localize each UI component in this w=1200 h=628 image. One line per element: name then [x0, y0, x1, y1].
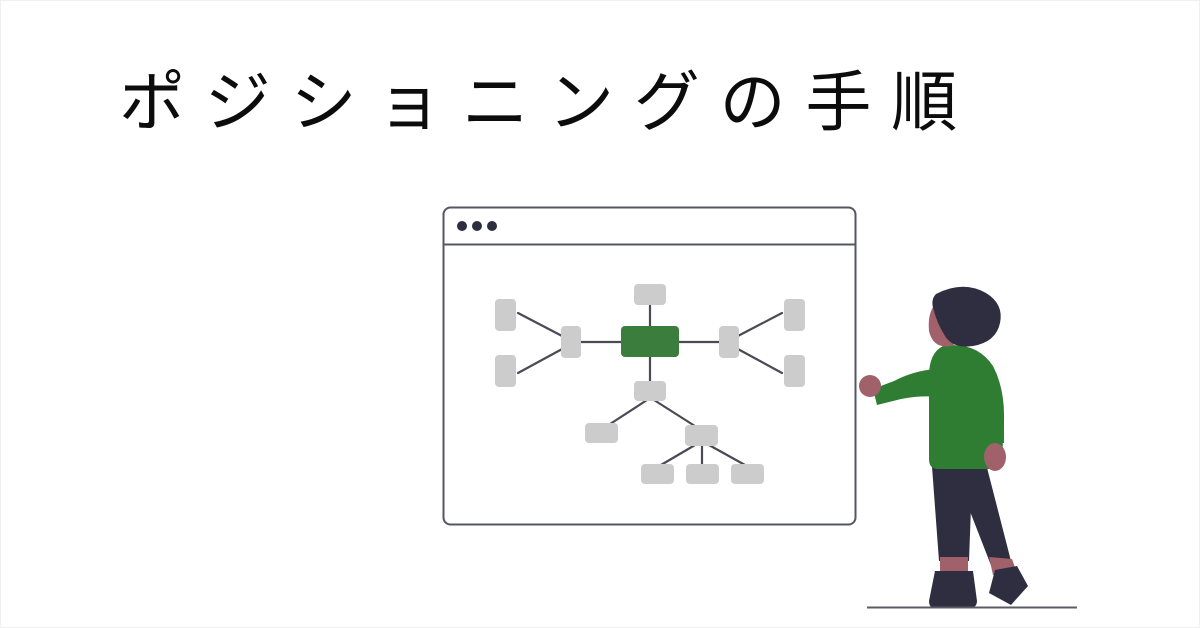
window-dot-close-icon[interactable]	[457, 221, 467, 231]
diagram-node-leaf-3[interactable]	[731, 464, 764, 484]
page-canvas: ポジショニングの手順	[0, 0, 1200, 628]
person-front-leg	[931, 453, 973, 561]
person-hand	[859, 375, 881, 397]
diagram-node-leaf-1[interactable]	[641, 464, 674, 484]
diagram-node-hub-left[interactable]	[561, 326, 581, 358]
diagram-node-right-top[interactable]	[784, 299, 805, 331]
person-back-shoe	[989, 566, 1028, 605]
diagram-node-center[interactable]	[621, 326, 679, 357]
diagram-node-hub-right[interactable]	[719, 326, 739, 358]
hero-illustration	[1, 1, 1200, 628]
person-hanging-hand	[984, 443, 1006, 471]
person-front-shoe	[929, 571, 977, 608]
diagram-node-left-top[interactable]	[495, 299, 516, 331]
person-illustration	[859, 287, 1028, 608]
window-dot-minimize-icon[interactable]	[472, 221, 482, 231]
diagram-node-bottom-sub-hub[interactable]	[685, 425, 718, 446]
diagram-node-top[interactable]	[634, 284, 666, 305]
diagram-node-bottom-hub[interactable]	[634, 381, 666, 401]
diagram-node-left-bottom[interactable]	[495, 355, 516, 387]
window-dot-maximize-icon[interactable]	[487, 221, 497, 231]
diagram-node-right-bottom[interactable]	[784, 355, 805, 387]
diagram-node-leaf-2[interactable]	[686, 464, 719, 484]
diagram-node-bottom-left-leaf[interactable]	[585, 423, 618, 443]
